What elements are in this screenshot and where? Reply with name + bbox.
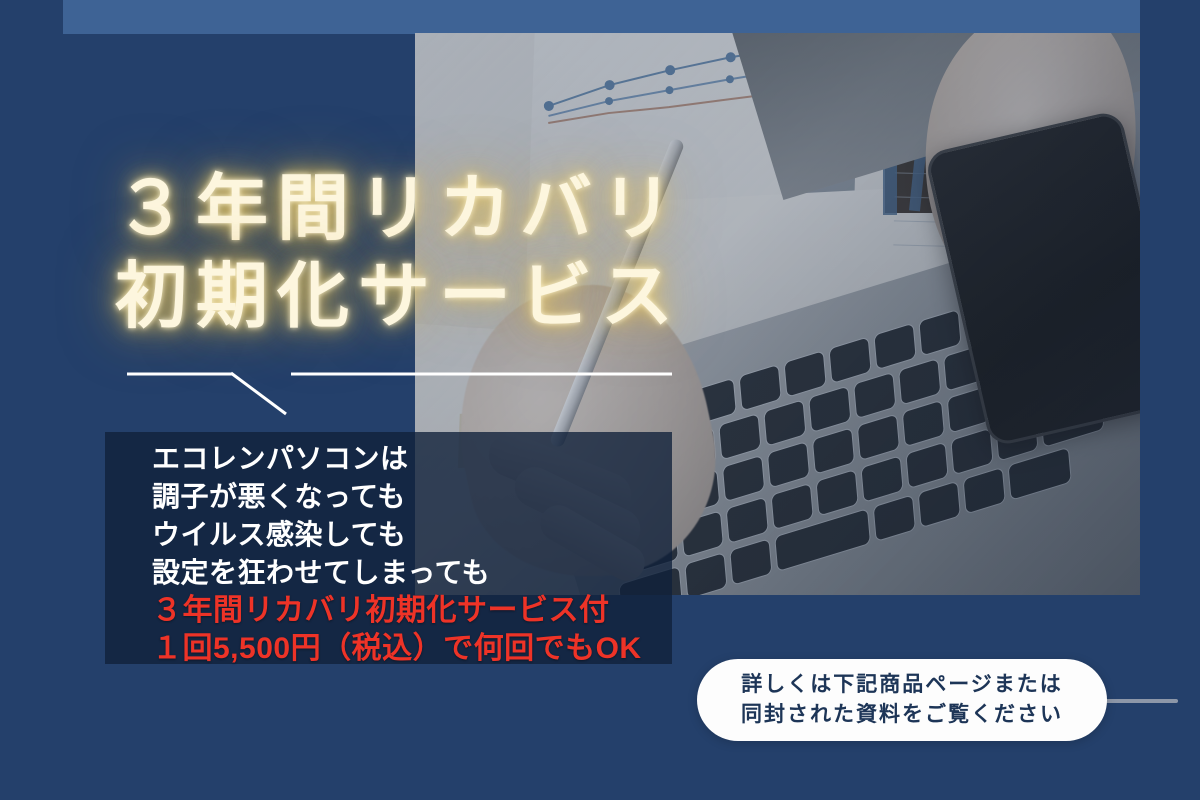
description-line: エコレンパソコンは bbox=[152, 440, 642, 478]
description-text: エコレンパソコンは 調子が悪くなっても ウイルス感染しても 設定を狂わせてしまっ… bbox=[152, 440, 642, 668]
headline-line-1: ３年間リカバリ bbox=[115, 165, 682, 253]
headline-line-2: 初期化サービス bbox=[115, 253, 682, 341]
description-line: 設定を狂わせてしまっても bbox=[152, 554, 642, 592]
callout-line-1: 詳しくは下記商品ページまたは bbox=[741, 670, 1063, 700]
description-line: 調子が悪くなっても bbox=[152, 478, 642, 516]
description-line: ウイルス感染しても bbox=[152, 516, 642, 554]
page-title: ３年間リカバリ 初期化サービス bbox=[115, 165, 682, 341]
callout-pill[interactable]: 詳しくは下記商品ページまたは 同封された資料をご覧ください bbox=[697, 659, 1107, 741]
top-accent-band bbox=[63, 0, 1140, 34]
callout-line-2: 同封された資料をご覧ください bbox=[741, 700, 1063, 730]
rule-diagonal bbox=[231, 373, 286, 414]
price-line: １回5,500円（税込）で何回でもOK bbox=[152, 630, 642, 668]
promo-banner: ３年間リカバリ 初期化サービス エコレンパソコンは 調子が悪くなっても ウイルス… bbox=[0, 0, 1200, 800]
highlight-line: ３年間リカバリ初期化サービス付 bbox=[152, 592, 642, 630]
